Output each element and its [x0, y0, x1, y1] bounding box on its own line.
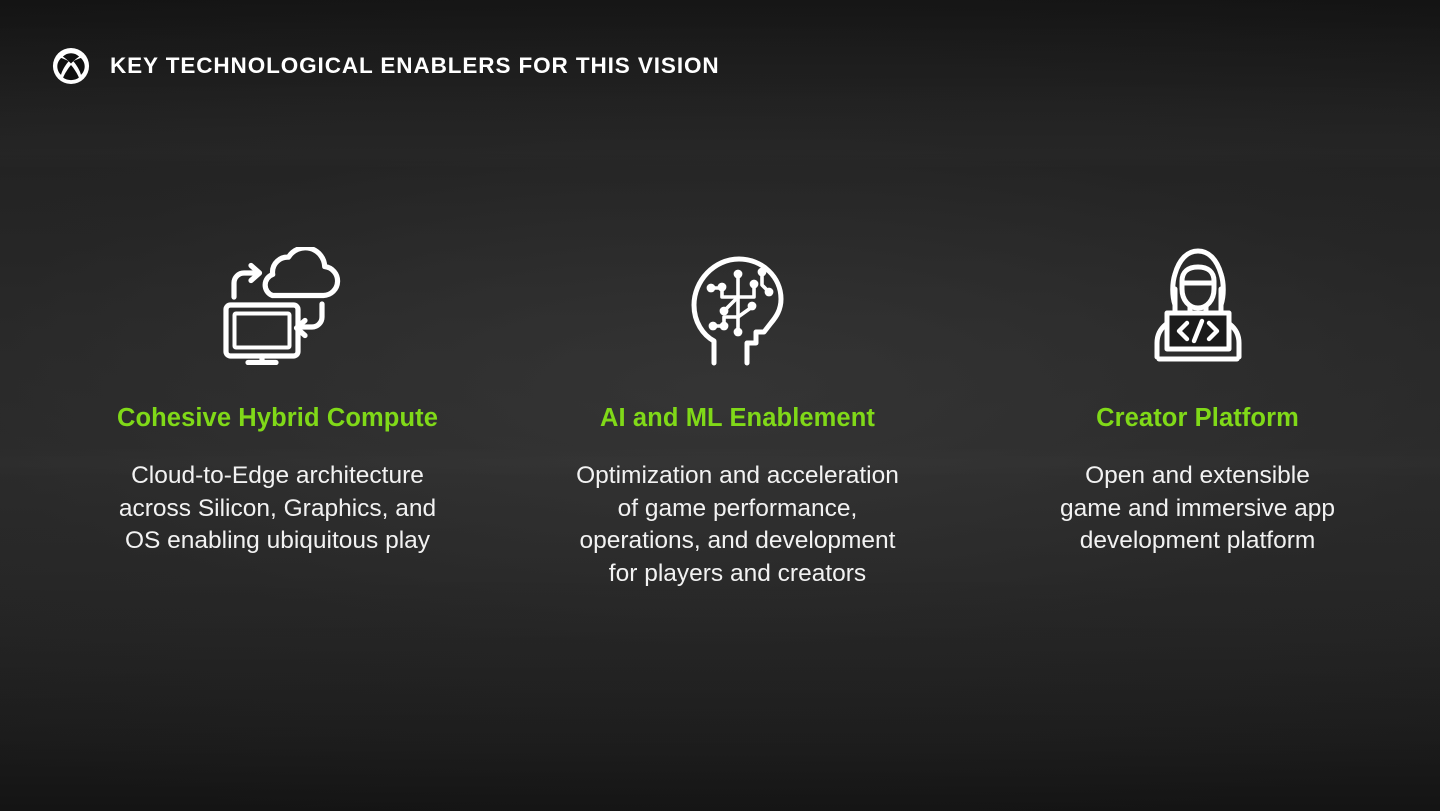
slide-header: KEY TECHNOLOGICAL ENABLERS FOR THIS VISI…	[52, 47, 720, 85]
enabler-title: Creator Platform	[1096, 404, 1299, 432]
xbox-logo-icon	[52, 47, 90, 85]
enabler-description: Open and extensible game and immersive a…	[1060, 460, 1335, 558]
enabler-column-creator-platform: Creator Platform Open and extensible gam…	[970, 236, 1425, 590]
enablers-columns: Cohesive Hybrid Compute Cloud-to-Edge ar…	[0, 236, 1440, 590]
enabler-column-cohesive-hybrid-compute: Cohesive Hybrid Compute Cloud-to-Edge ar…	[50, 236, 505, 590]
enabler-title: AI and ML Enablement	[600, 404, 875, 432]
slide-canvas: KEY TECHNOLOGICAL ENABLERS FOR THIS VISI…	[0, 0, 1440, 811]
enabler-title: Cohesive Hybrid Compute	[117, 404, 438, 432]
page-title: KEY TECHNOLOGICAL ENABLERS FOR THIS VISI…	[110, 55, 720, 78]
cloud-to-edge-sync-icon	[212, 236, 344, 376]
creator-laptop-code-icon	[1145, 236, 1251, 376]
enabler-description: Optimization and acceleration of game pe…	[576, 460, 899, 590]
enabler-description: Cloud-to-Edge architecture across Silico…	[119, 460, 436, 558]
enabler-column-ai-and-ml-enablement: AI and ML Enablement Optimization and ac…	[510, 236, 965, 590]
ai-brain-circuit-head-icon	[684, 236, 792, 376]
